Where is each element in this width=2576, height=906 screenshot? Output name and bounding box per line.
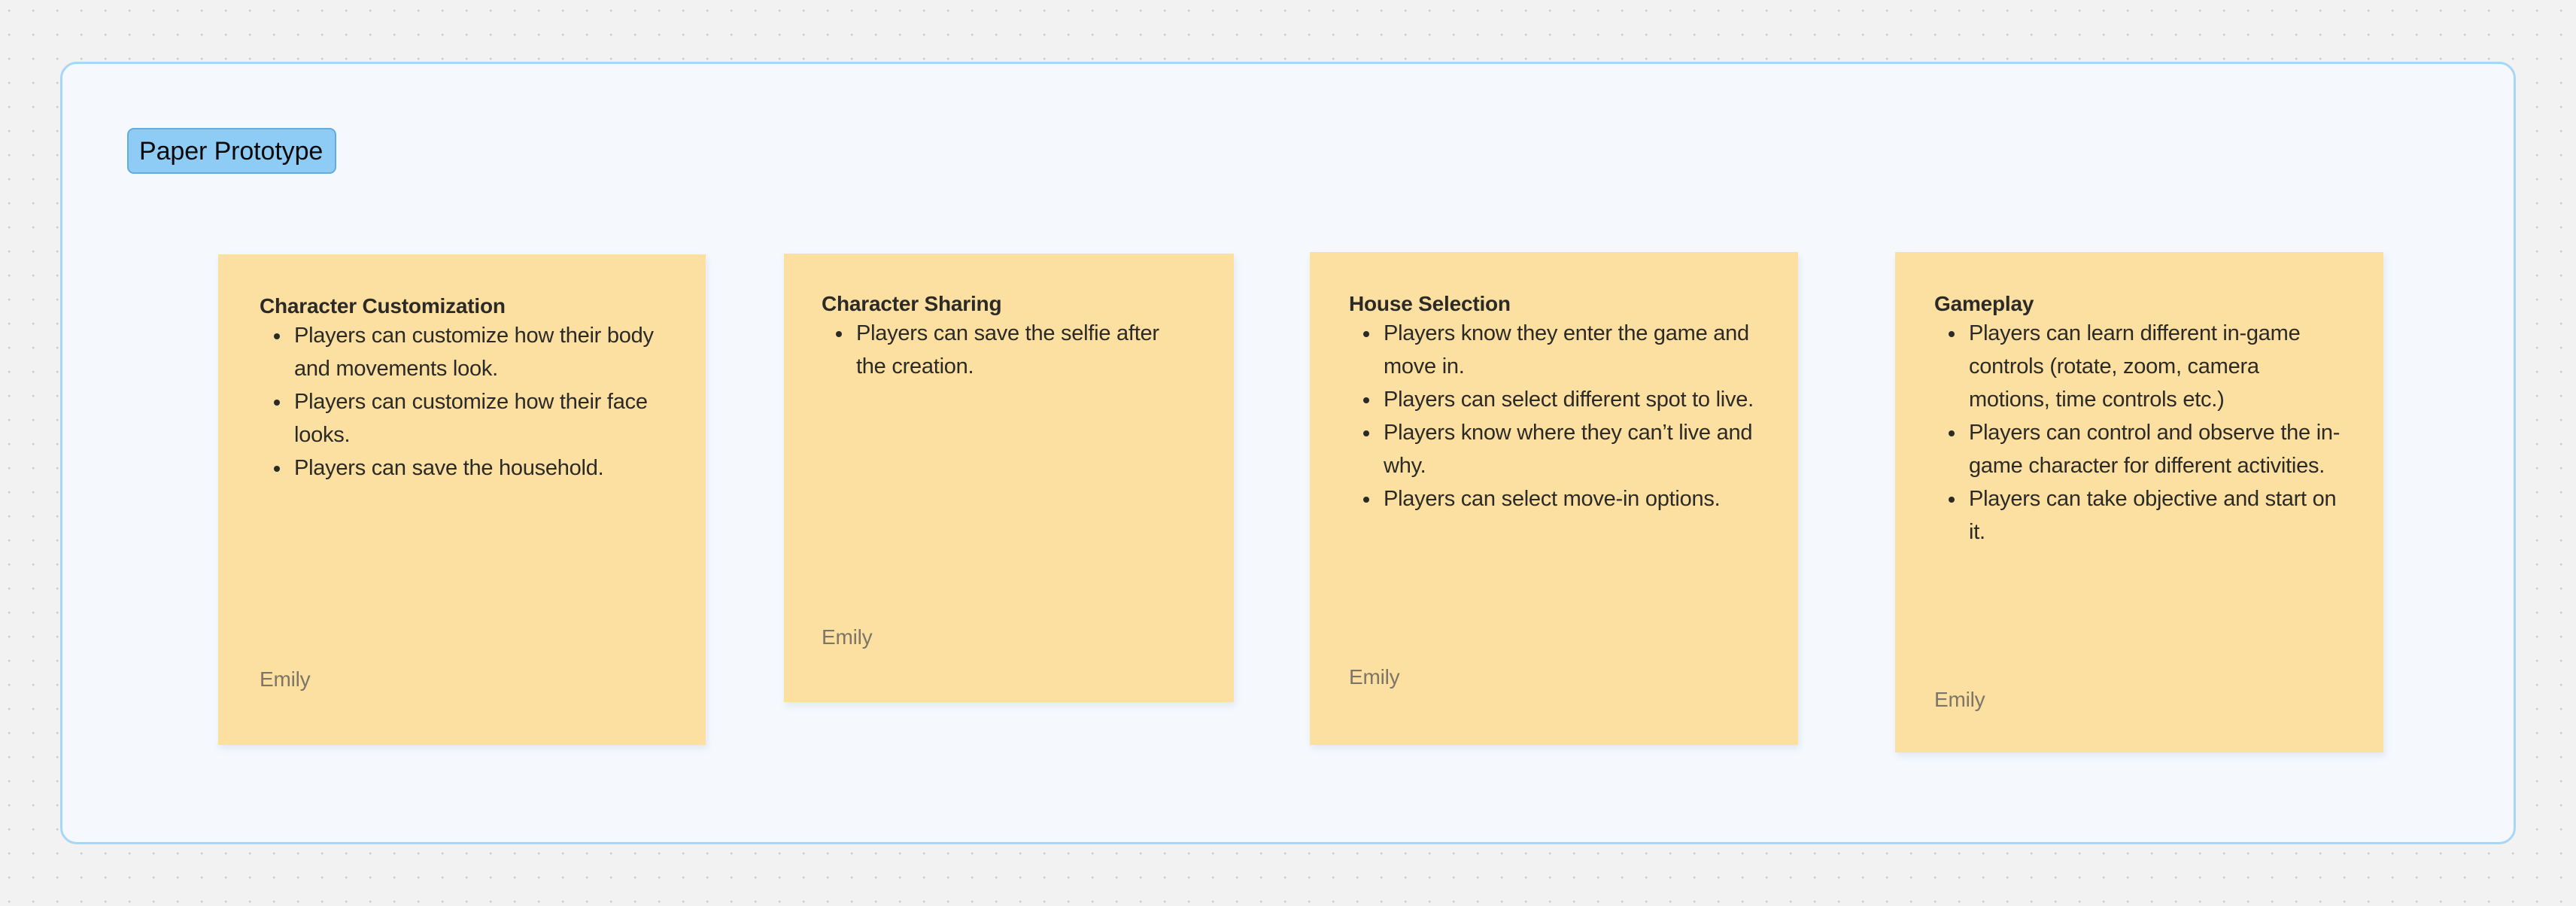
list-item: Players can select different spot to liv… bbox=[1381, 383, 1755, 416]
sticky-note[interactable]: House Selection Players know they enter … bbox=[1310, 252, 1798, 745]
list-item: Players know where they can’t live and w… bbox=[1381, 416, 1755, 482]
sticky-note-title: House Selection bbox=[1349, 291, 1755, 317]
sticky-note-content: Character Customization Players can cust… bbox=[260, 293, 662, 485]
sticky-note-bullet-list: Players can save the selfie after the cr… bbox=[822, 317, 1190, 383]
list-item: Players can learn different in-game cont… bbox=[1966, 317, 2341, 416]
list-item: Players can control and observe the in-g… bbox=[1966, 416, 2341, 482]
list-item: Players can save the selfie after the cr… bbox=[853, 317, 1190, 383]
sticky-note[interactable]: Gameplay Players can learn different in-… bbox=[1895, 252, 2383, 752]
list-item: Players can customize how their body and… bbox=[291, 319, 662, 385]
sticky-note-author: Emily bbox=[260, 668, 310, 691]
list-item: Players can select move-in options. bbox=[1381, 482, 1755, 515]
list-item: Players can customize how their face loo… bbox=[291, 385, 662, 451]
list-item: Players can take objective and start on … bbox=[1966, 482, 2341, 549]
list-item: Players can save the household. bbox=[291, 451, 662, 485]
sticky-note-content: House Selection Players know they enter … bbox=[1349, 291, 1755, 515]
sticky-note-title: Character Sharing bbox=[822, 291, 1190, 317]
sticky-note-title: Character Customization bbox=[260, 293, 662, 319]
prototype-frame[interactable]: Paper Prototype Character Customization … bbox=[60, 62, 2516, 844]
list-item: Players know they enter the game and mov… bbox=[1381, 317, 1755, 383]
sticky-note-bullet-list: Players know they enter the game and mov… bbox=[1349, 317, 1755, 515]
sticky-note-bullet-list: Players can learn different in-game cont… bbox=[1934, 317, 2341, 549]
sticky-note-content: Gameplay Players can learn different in-… bbox=[1934, 291, 2341, 549]
sticky-note-author: Emily bbox=[1349, 666, 1399, 689]
frame-title-label: Paper Prototype bbox=[139, 138, 323, 164]
frame-title-chip[interactable]: Paper Prototype bbox=[127, 128, 336, 174]
sticky-note[interactable]: Character Customization Players can cust… bbox=[218, 254, 706, 745]
sticky-note-content: Character Sharing Players can save the s… bbox=[822, 291, 1190, 383]
sticky-note[interactable]: Character Sharing Players can save the s… bbox=[784, 254, 1234, 702]
sticky-note-author: Emily bbox=[822, 626, 872, 649]
sticky-note-title: Gameplay bbox=[1934, 291, 2341, 317]
sticky-note-author: Emily bbox=[1934, 689, 1985, 711]
sticky-note-bullet-list: Players can customize how their body and… bbox=[260, 319, 662, 485]
